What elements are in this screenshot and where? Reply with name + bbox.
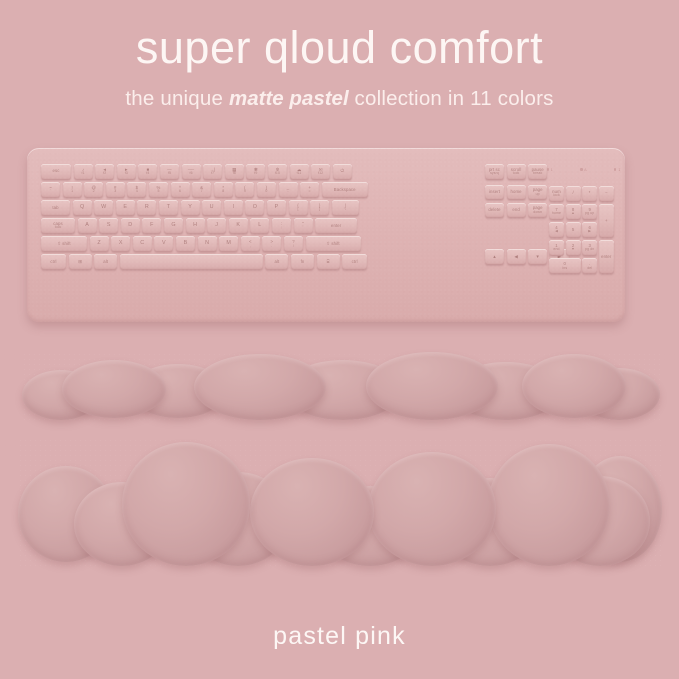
key-end[interactable]: end (507, 203, 526, 219)
caps-lock-led: A (580, 168, 586, 172)
key-a[interactable]: A (78, 218, 97, 234)
key-legend-secondary: ` (50, 190, 51, 194)
key-legend-primary: ctrl (352, 260, 358, 265)
key-f11[interactable]: ☁f11 (290, 164, 309, 180)
key-blank[interactable]: − (599, 186, 614, 202)
key-f9[interactable]: ✽f9 (246, 164, 265, 180)
key-e[interactable]: E (116, 200, 135, 216)
key-blank[interactable]: ⏻ (333, 164, 352, 180)
key-6[interactable]: 6▶ (582, 222, 597, 238)
key-legend-primary: C (140, 241, 144, 247)
key-blank[interactable]: * (582, 186, 597, 202)
key-legend-secondary: ◀ (555, 230, 558, 234)
key-l[interactable]: L (250, 218, 269, 234)
key-ctrl[interactable]: ctrl (342, 254, 367, 270)
key-5[interactable]: %5 (149, 182, 168, 198)
key-n[interactable]: N (198, 236, 217, 252)
key-legend-primary: ▼ (536, 255, 540, 260)
key-legend-primary: esc (53, 169, 60, 174)
key-blank[interactable]: / (566, 186, 581, 202)
key-legend-primary: P (275, 205, 279, 211)
key-legend-secondary: ▼ (571, 248, 575, 252)
key-9[interactable]: (9 (235, 182, 254, 198)
key-legend-secondary: [ (297, 208, 298, 212)
key-f6[interactable]: ──f6 (182, 164, 201, 180)
key-k[interactable]: K (229, 218, 248, 234)
key-blank[interactable]: ⊞ (69, 254, 92, 270)
key-tab[interactable]: tab (41, 200, 70, 216)
key-f3[interactable]: ►f3 (117, 164, 136, 180)
cloud-lobe (250, 458, 374, 566)
page-subtitle: the unique matte pastel collection in 11… (0, 86, 679, 112)
key-7[interactable]: &7 (192, 182, 211, 198)
led-dot-icon (614, 168, 616, 170)
key-legend-secondary: up (536, 193, 540, 197)
key-f10[interactable]: ✼f10 (268, 164, 287, 180)
key-legend-primary: D (128, 223, 132, 229)
key-8[interactable]: *8 (214, 182, 233, 198)
led-label: A (584, 168, 586, 172)
key-legend-secondary: f8 (233, 172, 236, 176)
key-i[interactable]: I (224, 200, 243, 216)
key-f12[interactable]: ✉f12 (311, 164, 330, 180)
key-9-pg-up[interactable]: 9pg up (582, 204, 597, 220)
key-legend-secondary: f11 (297, 172, 302, 176)
key-legend-primary: fn (301, 260, 305, 265)
key-del[interactable]: .del (582, 258, 597, 274)
key-legend-secondary: f2 (103, 172, 106, 176)
keyboard-row-bottom: ctrl⊞altaltfn⌸ctrl (41, 254, 481, 270)
key-alt[interactable]: alt (265, 254, 288, 270)
keyboard-row-nav-mid: inserthomepageup (485, 185, 545, 201)
key-blank[interactable]: <, (241, 236, 260, 252)
key-h[interactable]: H (186, 218, 205, 234)
key-legend-secondary: ▲ (571, 212, 575, 216)
key-legend-primary: enter (331, 224, 341, 229)
key-o[interactable]: O (245, 200, 264, 216)
key-backspace[interactable]: Backspace (322, 182, 368, 198)
key-blank[interactable]: :; (272, 218, 291, 234)
key-legend-secondary: ' (303, 226, 304, 230)
keyboard-row-nav-top: prt scsysrqscrolllockpausebreak (485, 164, 545, 180)
led-dot-icon (580, 168, 582, 170)
key-blank[interactable]: ?/ (284, 236, 303, 252)
key-legend-secondary: - (287, 190, 288, 194)
led-label: ↧ (618, 168, 621, 172)
keyboard-row-home: capslockASDFGHJKL:;"'enter (41, 218, 481, 234)
key-legend-secondary: pg dn (585, 248, 594, 252)
key-legend-primary: G (171, 223, 175, 229)
key-legend-primary: ctrl (50, 260, 56, 265)
color-caption: pastel pink (0, 622, 679, 651)
key-blank[interactable]: ◀ (507, 249, 526, 265)
key-legend-primary: U (210, 205, 214, 211)
key-j[interactable]: J (207, 218, 226, 234)
cloud-lobe (62, 360, 166, 418)
key-legend-secondary: 5 (157, 190, 159, 194)
key-legend-primary: tab (52, 206, 58, 211)
cloud-lobe (488, 444, 610, 566)
key-legend-secondary: down (533, 211, 542, 215)
keyboard-row-qwerty: tabQWERTYUIOP{[}]|\ (41, 200, 481, 216)
key-legend-secondary: 2 (93, 190, 95, 194)
key-f1[interactable]: ♪f1 (74, 164, 93, 180)
key-legend-secondary: f4 (146, 172, 149, 176)
key-2[interactable]: @2 (84, 182, 103, 198)
key-legend-secondary: f7 (211, 172, 214, 176)
key-enter[interactable]: enter (315, 218, 357, 234)
key-blank[interactable]: |\ (332, 200, 359, 216)
keyboard-wrist-rest (22, 352, 660, 424)
cloud-lobe (366, 352, 498, 420)
key-alt[interactable]: alt (94, 254, 117, 270)
key-prt-sc-sysrq[interactable]: prt scsysrq (485, 164, 504, 180)
key-legend-secondary: 7 (201, 190, 203, 194)
key-insert[interactable]: insert (485, 185, 504, 201)
key-legend-secondary: f10 (275, 172, 280, 176)
key-legend-primary: / (572, 191, 573, 196)
key-legend-primary: R (145, 205, 149, 211)
key-legend-secondary: 3 (114, 190, 116, 194)
key-2[interactable]: 2▼ (566, 240, 581, 256)
key-legend-primary: V (162, 241, 166, 247)
key-legend-primary: end (512, 208, 519, 213)
key-fn[interactable]: fn (291, 254, 314, 270)
key-legend-primary: Backspace (334, 188, 356, 193)
key-legend-primary: E (123, 205, 127, 211)
key-legend-primary: Q (80, 205, 84, 211)
key-legend-primary: Z (97, 241, 100, 247)
key-legend-secondary: f5 (168, 172, 171, 176)
key-f4[interactable]: ■f4 (138, 164, 157, 180)
key-z[interactable]: Z (90, 236, 109, 252)
key-legend-primary: Y (188, 205, 192, 211)
key-legend-primary: ▲ (492, 255, 496, 260)
key-b[interactable]: B (176, 236, 195, 252)
key-legend-secondary: . (271, 245, 272, 249)
key-legend-primary: X (119, 241, 123, 247)
key-legend-secondary: 6 (179, 190, 181, 194)
key-legend-primary: ⊞ (78, 260, 82, 265)
key-legend-secondary: home (552, 212, 561, 216)
subtitle-suffix: collection in 11 colors (349, 87, 554, 110)
key-m[interactable]: M (219, 236, 238, 252)
key-legend-primary: alt (274, 260, 279, 265)
key-caps-lock[interactable]: capslock (41, 218, 75, 234)
key-legend-primary: − (605, 191, 608, 196)
key-blank[interactable]: _- (279, 182, 298, 198)
key-legend-primary: B (184, 241, 188, 247)
key-3-pg-dn[interactable]: 3pg dn (582, 240, 597, 256)
key-legend-primary: ⇧ shift (326, 242, 339, 247)
key-legend-secondary: \ (345, 208, 346, 212)
key-legend-primary: * (589, 191, 591, 196)
key-legend-secondary: ] (319, 208, 320, 212)
key-legend-primary: I (232, 205, 234, 211)
product-image: super qloud comfort the unique matte pas… (0, 0, 679, 679)
key-4[interactable]: $4 (127, 182, 146, 198)
key-f8[interactable]: ▦f8 (225, 164, 244, 180)
key-f2[interactable]: ◄f2 (95, 164, 114, 180)
key-legend-secondary: ▶ (588, 230, 591, 234)
key-blank[interactable]: + (599, 204, 614, 238)
keyboard-row-nav-bot: deleteendpagedown (485, 203, 545, 219)
key-scroll-lock[interactable]: scrolllock (507, 164, 526, 180)
key-v[interactable]: V (154, 236, 173, 252)
key-legend-primary: K (236, 223, 240, 229)
key-d[interactable]: D (121, 218, 140, 234)
key-legend-primary: H (193, 223, 197, 229)
cloud-lobe (122, 442, 250, 566)
key-legend-secondary: 9 (244, 190, 246, 194)
key-legend-primary: O (253, 205, 257, 211)
key-3[interactable]: #3 (106, 182, 125, 198)
key-8[interactable]: 8▲ (566, 204, 581, 220)
page-title: super qloud comfort (0, 22, 679, 74)
key-c[interactable]: C (133, 236, 152, 252)
key-blank[interactable]: >. (262, 236, 281, 252)
key-legend-primary: T (167, 205, 170, 211)
key-legend-secondary: end (553, 248, 559, 252)
key-legend-secondary: 4 (136, 190, 138, 194)
key-s[interactable]: S (99, 218, 118, 234)
key-5[interactable]: 5 (566, 222, 581, 238)
key-legend-secondary: f9 (254, 172, 257, 176)
keyboard-nav-block: prt scsysrqscrolllockpausebreak insertho… (485, 164, 545, 267)
key-legend-secondary: lock (55, 226, 62, 230)
keyboard-row-function: esc♪f1◄f2►f3■f4―f5──f6→|f7▦f8✽f9✼f10☁f11… (41, 164, 481, 180)
key-legend-secondary: lock (513, 172, 520, 176)
key-legend-primary: enter (601, 255, 611, 260)
key-legend-secondary: = (309, 190, 311, 194)
key-legend-secondary: 1 (71, 190, 73, 194)
key-legend-secondary: sysrq (490, 172, 499, 176)
key-blank[interactable] (120, 254, 263, 270)
key-6[interactable]: ^6 (171, 182, 190, 198)
keyboard-row-numbers: ~`!1@2#3$4%5^6&7*8(9)0_-+=Backspace (41, 182, 481, 198)
cloud-lobe (368, 452, 496, 566)
key-legend-secondary: f1 (82, 172, 85, 176)
key-shift[interactable]: ⇧ shift (41, 236, 87, 252)
key-p[interactable]: P (267, 200, 286, 216)
key-legend-secondary: f3 (125, 172, 128, 176)
key-legend-primary: + (605, 219, 608, 224)
key-legend-primary: A (85, 223, 89, 229)
key-x[interactable]: X (111, 236, 130, 252)
key-u[interactable]: U (202, 200, 221, 216)
key-legend-primary: L (258, 223, 261, 229)
key-legend-primary: N (205, 241, 209, 247)
key-t[interactable]: T (159, 200, 178, 216)
key-q[interactable]: Q (73, 200, 92, 216)
key-legend-primary: J (215, 223, 218, 229)
cloud-lobe (522, 354, 626, 418)
key-legend-secondary: ; (281, 226, 282, 230)
subtitle-emphasis: matte pastel (229, 87, 349, 110)
key-1[interactable]: !1 (63, 182, 82, 198)
key-blank[interactable]: ▼ (528, 249, 547, 265)
key-legend-secondary: , (250, 245, 251, 249)
key-enter[interactable]: enter (599, 240, 614, 274)
key-legend-secondary: pg up (585, 212, 594, 216)
key-legend-primary: F (150, 223, 153, 229)
key-ctrl[interactable]: ctrl (41, 254, 66, 270)
key-blank[interactable]: ▲ (485, 249, 504, 265)
key-blank[interactable]: ~` (41, 182, 60, 198)
key-legend-secondary: break (533, 172, 542, 176)
key-legend-primary: ⏻ (340, 169, 344, 174)
key-legend-primary: alt (103, 260, 108, 265)
key-f[interactable]: F (142, 218, 161, 234)
key-legend-secondary: 8 (222, 190, 224, 194)
key-0-ins[interactable]: 0ins (549, 258, 581, 274)
key-legend-secondary: lock (553, 194, 560, 198)
key-y[interactable]: Y (181, 200, 200, 216)
key-blank[interactable]: {[ (289, 200, 308, 216)
key-blank[interactable]: ⌸ (317, 254, 340, 270)
key-num-lock[interactable]: numlock (549, 186, 564, 202)
key-f7[interactable]: →|f7 (203, 164, 222, 180)
key-1-end[interactable]: 1end (549, 240, 564, 256)
keyboard-row-arrows: ▲◀▼▶ (485, 249, 545, 265)
subtitle-prefix: the unique (125, 87, 229, 110)
key-legend-primary: ⌸ (327, 260, 330, 265)
key-legend-primary: 5 (572, 228, 575, 233)
key-7-home[interactable]: 7home (549, 204, 564, 220)
key-delete[interactable]: delete (485, 203, 504, 219)
key-4[interactable]: 4◀ (549, 222, 564, 238)
led-label: 1 (551, 168, 553, 172)
key-home[interactable]: home (507, 185, 526, 201)
key-legend-secondary: f12 (318, 172, 323, 176)
key-blank[interactable]: "' (294, 218, 313, 234)
key-w[interactable]: W (94, 200, 113, 216)
key-blank[interactable]: += (300, 182, 319, 198)
key-legend-primary: ⇧ shift (57, 242, 70, 247)
key-page-up[interactable]: pageup (528, 185, 547, 201)
num-lock-led: 1 (547, 168, 553, 172)
key-r[interactable]: R (137, 200, 156, 216)
led-dot-icon (547, 168, 549, 170)
keyboard-product: esc♪f1◄f2►f3■f4―f5──f6→|f7▦f8✽f9✼f10☁f11… (27, 148, 625, 322)
key-legend-primary: S (107, 223, 111, 229)
key-legend-secondary: ins (562, 267, 567, 271)
key-legend-primary: home (511, 190, 522, 195)
keyboard-row-shift: ⇧ shiftZXCVBNM<,>.?/⇧ shift (41, 236, 481, 252)
key-legend-secondary: 0 (265, 190, 267, 194)
key-legend-primary: delete (488, 208, 500, 213)
key-legend-primary: ◀ (514, 255, 517, 260)
key-legend-secondary: f6 (190, 172, 193, 176)
key-blank[interactable]: }] (310, 200, 329, 216)
scroll-lock-led: ↧ (614, 168, 621, 172)
mouse-wrist-pad (18, 438, 662, 566)
key-page-down[interactable]: pagedown (528, 203, 547, 219)
key-legend-primary: M (226, 241, 231, 247)
keyboard-main-block: esc♪f1◄f2►f3■f4―f5──f6→|f7▦f8✽f9✼f10☁f11… (41, 164, 481, 273)
key-shift[interactable]: ⇧ shift (306, 236, 361, 252)
key-f5[interactable]: ―f5 (160, 164, 179, 180)
key-esc[interactable]: esc (41, 164, 71, 180)
key-g[interactable]: G (164, 218, 183, 234)
keyboard-indicator-leds: 1A↧ (547, 164, 621, 175)
key-legend-secondary: / (293, 245, 294, 249)
key-legend-secondary: del (587, 267, 592, 271)
key-legend-primary: W (101, 205, 106, 211)
key-0[interactable]: )0 (257, 182, 276, 198)
key-pause-break[interactable]: pausebreak (528, 164, 547, 180)
cloud-lobe (194, 354, 326, 420)
key-legend-primary: insert (489, 190, 500, 195)
